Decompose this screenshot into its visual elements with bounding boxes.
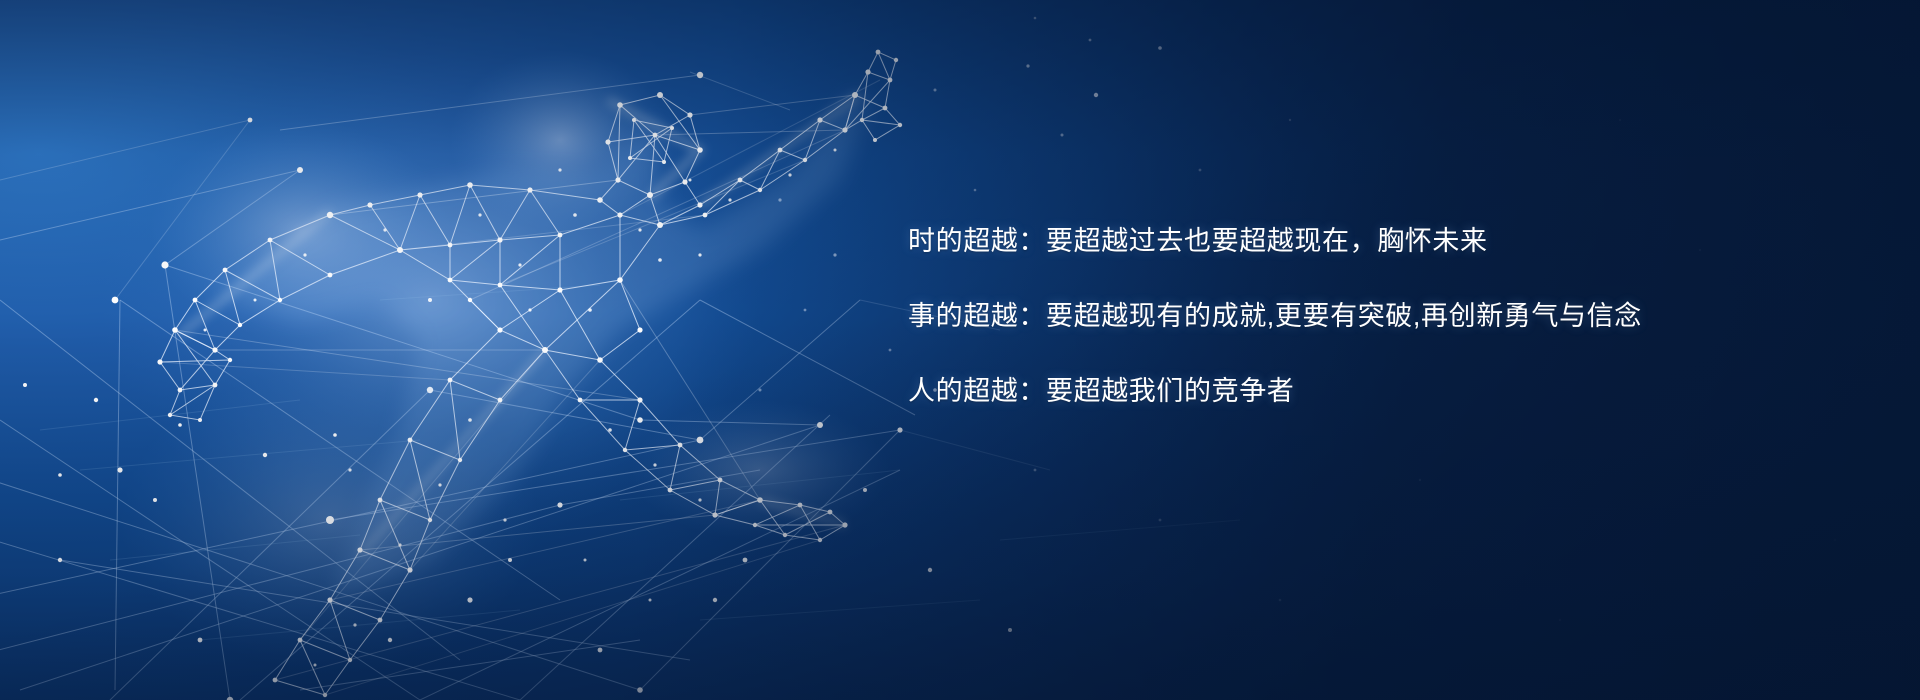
slogan-line-3: 人的超越：要超越我们的竞争者 (908, 378, 1808, 405)
slogan-line-2: 事的超越：要超越现有的成就,更要有突破,再创新勇气与信念 (908, 303, 1808, 330)
slogan-text-block: 时的超越：要超越过去也要超越现在，胸怀未来 事的超越：要超越现有的成就,更要有突… (908, 228, 1808, 405)
slogan-line-1: 时的超越：要超越过去也要超越现在，胸怀未来 (908, 228, 1808, 255)
banner-stage: 时的超越：要超越过去也要超越现在，胸怀未来 事的超越：要超越现有的成就,更要有突… (0, 0, 1920, 700)
